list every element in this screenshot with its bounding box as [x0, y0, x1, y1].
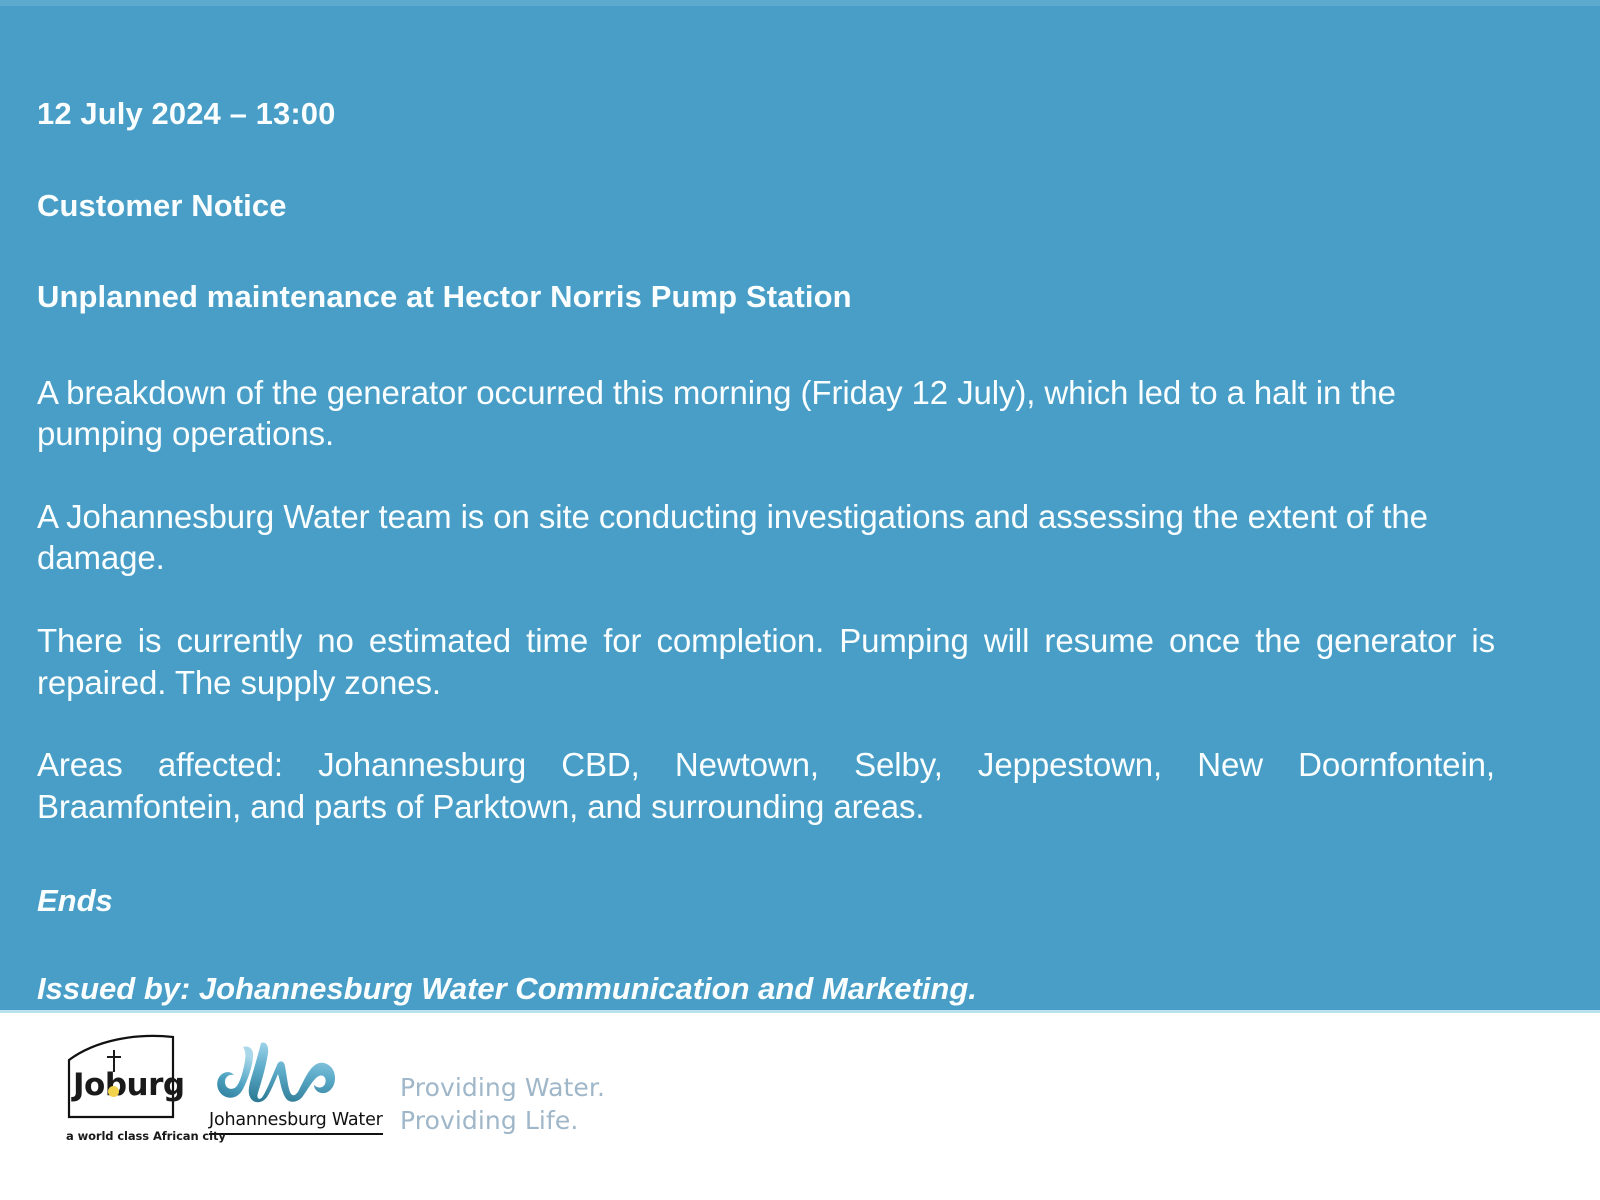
- notice-paragraph-team-on-site: A Johannesburg Water team is on site con…: [37, 496, 1495, 579]
- notice-paragraph-breakdown: A breakdown of the generator occurred th…: [37, 372, 1495, 455]
- notice-paragraph-areas-affected: Areas affected: Johannesburg CBD, Newtow…: [37, 744, 1495, 827]
- johannesburg-water-logo: Johannesburg Water: [209, 1034, 354, 1135]
- panel-top-edge: [0, 0, 1600, 6]
- notice-page: 12 July 2024 – 13:00 Customer Notice Unp…: [0, 0, 1600, 1200]
- footer-tagline-line-1: Providing Water.: [400, 1071, 605, 1104]
- notice-footer: Joburg a world class African city: [0, 1013, 1600, 1200]
- joburg-tagline: a world class African city: [66, 1129, 184, 1143]
- notice-issued-by: Issued by: Johannesburg Water Communicat…: [37, 970, 1495, 1007]
- johannesburg-water-wave-icon: [209, 1041, 354, 1109]
- notice-kicker: Customer Notice: [37, 188, 1495, 225]
- notice-paragraph-no-eta: There is currently no estimated time for…: [37, 620, 1495, 703]
- footer-tagline-line-2: Providing Life.: [400, 1104, 605, 1137]
- footer-tagline: Providing Water. Providing Life.: [400, 1034, 605, 1137]
- notice-ends: Ends: [37, 882, 1495, 919]
- notice-date-time: 12 July 2024 – 13:00: [37, 96, 1495, 133]
- notice-body: 12 July 2024 – 13:00 Customer Notice Unp…: [37, 96, 1495, 1007]
- joburg-shield-icon: Joburg: [66, 1034, 176, 1120]
- footer-logo-row: Joburg a world class African city: [66, 1034, 605, 1143]
- notice-headline: Unplanned maintenance at Hector Norris P…: [37, 279, 1495, 316]
- joburg-wordmark: Joburg: [73, 1070, 185, 1101]
- joburg-logo: Joburg a world class African city: [66, 1034, 184, 1143]
- joburg-yellow-dot-icon: [108, 1086, 119, 1097]
- notice-panel: 12 July 2024 – 13:00 Customer Notice Unp…: [0, 0, 1600, 1013]
- johannesburg-water-wordmark: Johannesburg Water: [209, 1110, 383, 1135]
